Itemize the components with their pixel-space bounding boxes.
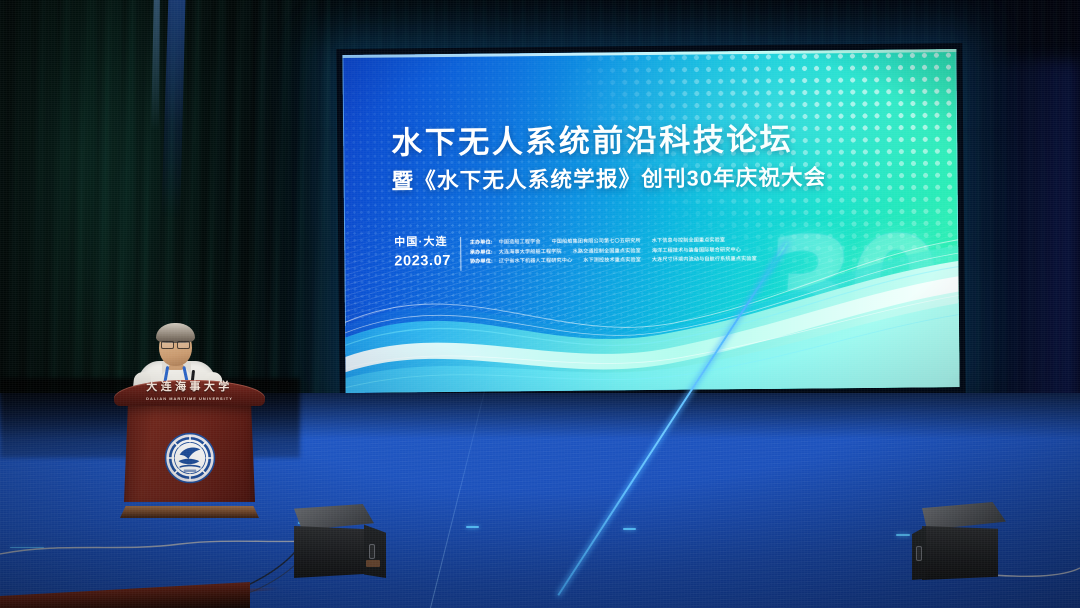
monitor-handle — [369, 544, 375, 559]
glasses-icon — [161, 341, 190, 347]
screen-vignette — [342, 49, 959, 393]
stage-monitor-left — [294, 504, 390, 578]
speaker-hair — [156, 323, 195, 343]
floor-tape-mark — [466, 526, 479, 528]
floor-tape-mark — [896, 534, 910, 536]
led-screen-frame: 30 — [336, 43, 965, 401]
floor-tape-mark — [623, 528, 636, 530]
podium-base — [120, 506, 259, 518]
monitor-connector — [366, 560, 380, 567]
led-screen: 30 — [342, 49, 959, 393]
university-emblem-icon — [164, 432, 216, 484]
podium-name-block: 大连海事大学 DALIAN MARITIME UNIVERSITY — [114, 382, 265, 401]
podium: 大连海事大学 DALIAN MARITIME UNIVERSITY — [120, 380, 259, 518]
stage-monitor-right — [912, 502, 1018, 580]
podium-name-cn: 大连海事大学 — [114, 382, 265, 394]
podium-name-en: DALIAN MARITIME UNIVERSITY — [114, 396, 265, 401]
podium-nameplate: 大连海事大学 DALIAN MARITIME UNIVERSITY — [114, 380, 265, 406]
monitor-handle — [916, 546, 922, 561]
conference-stage-photo: 30 — [0, 0, 1080, 608]
